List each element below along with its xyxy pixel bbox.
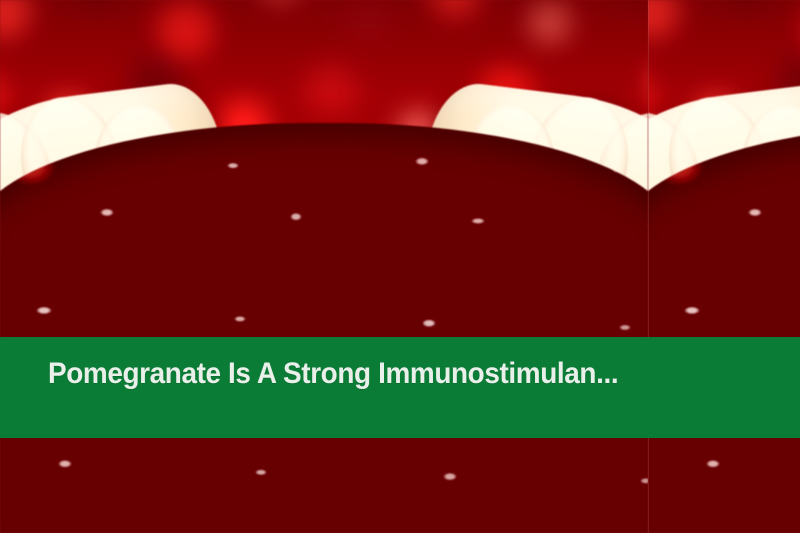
- photo-tile-repeat: [648, 0, 800, 533]
- pomegranate-arils: [648, 123, 800, 533]
- photo-background: [0, 0, 800, 533]
- pomegranate-photo-repeat: [648, 0, 800, 533]
- aril-highlights: [648, 123, 800, 533]
- article-title: Pomegranate Is A Strong Immunostimulan..…: [48, 359, 618, 389]
- pomegranate-photo: [0, 0, 648, 533]
- photo-tile-primary: [0, 0, 648, 533]
- aril-highlights: [0, 123, 648, 533]
- pomegranate-arils: [0, 123, 648, 533]
- title-banner[interactable]: Pomegranate Is A Strong Immunostimulan..…: [0, 337, 800, 438]
- article-thumbnail-card[interactable]: Pomegranate Is A Strong Immunostimulan..…: [0, 0, 800, 533]
